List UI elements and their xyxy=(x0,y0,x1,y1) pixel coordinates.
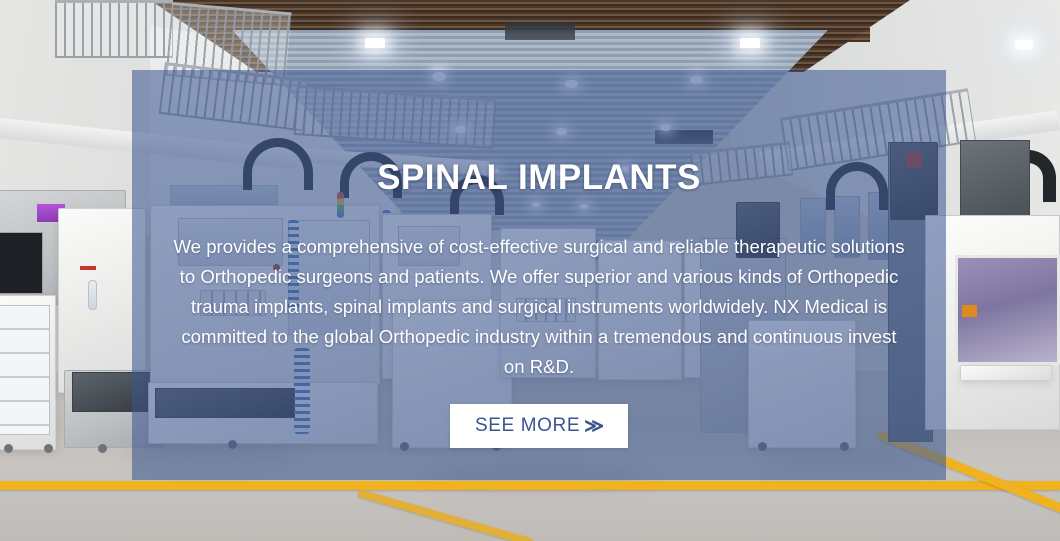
caster-left-1 xyxy=(4,444,13,453)
hero-content: SPINAL IMPLANTS We provides a comprehens… xyxy=(132,70,946,480)
cnc-right-tray xyxy=(960,365,1052,381)
window-upper-left xyxy=(505,22,575,40)
page-title: SPINAL IMPLANTS xyxy=(377,158,701,198)
machine-left-screen-panel xyxy=(0,232,43,294)
caster-left-3 xyxy=(98,444,107,453)
ceiling-lamp-3 xyxy=(1015,40,1033,49)
railing-left-upper xyxy=(55,0,173,58)
ceiling-lamp-2 xyxy=(740,38,760,48)
machine-left-2-label xyxy=(80,266,96,270)
see-more-label: SEE MORE xyxy=(475,415,580,437)
machine-left-cabinet-grid xyxy=(0,305,50,435)
caster-left-2 xyxy=(44,444,53,453)
ceiling-lamp-1 xyxy=(365,38,385,48)
hero-banner: SPINAL IMPLANTS We provides a comprehens… xyxy=(0,0,1060,541)
floor-safety-line-horizontal xyxy=(0,481,1060,490)
cnc-indicator-light xyxy=(962,305,977,317)
hero-description: We provides a comprehensive of cost-effe… xyxy=(169,232,909,382)
see-more-button[interactable]: SEE MORE ≫ xyxy=(450,404,628,448)
double-chevron-right-icon: ≫ xyxy=(584,415,603,438)
machine-left-2-port xyxy=(88,280,97,310)
